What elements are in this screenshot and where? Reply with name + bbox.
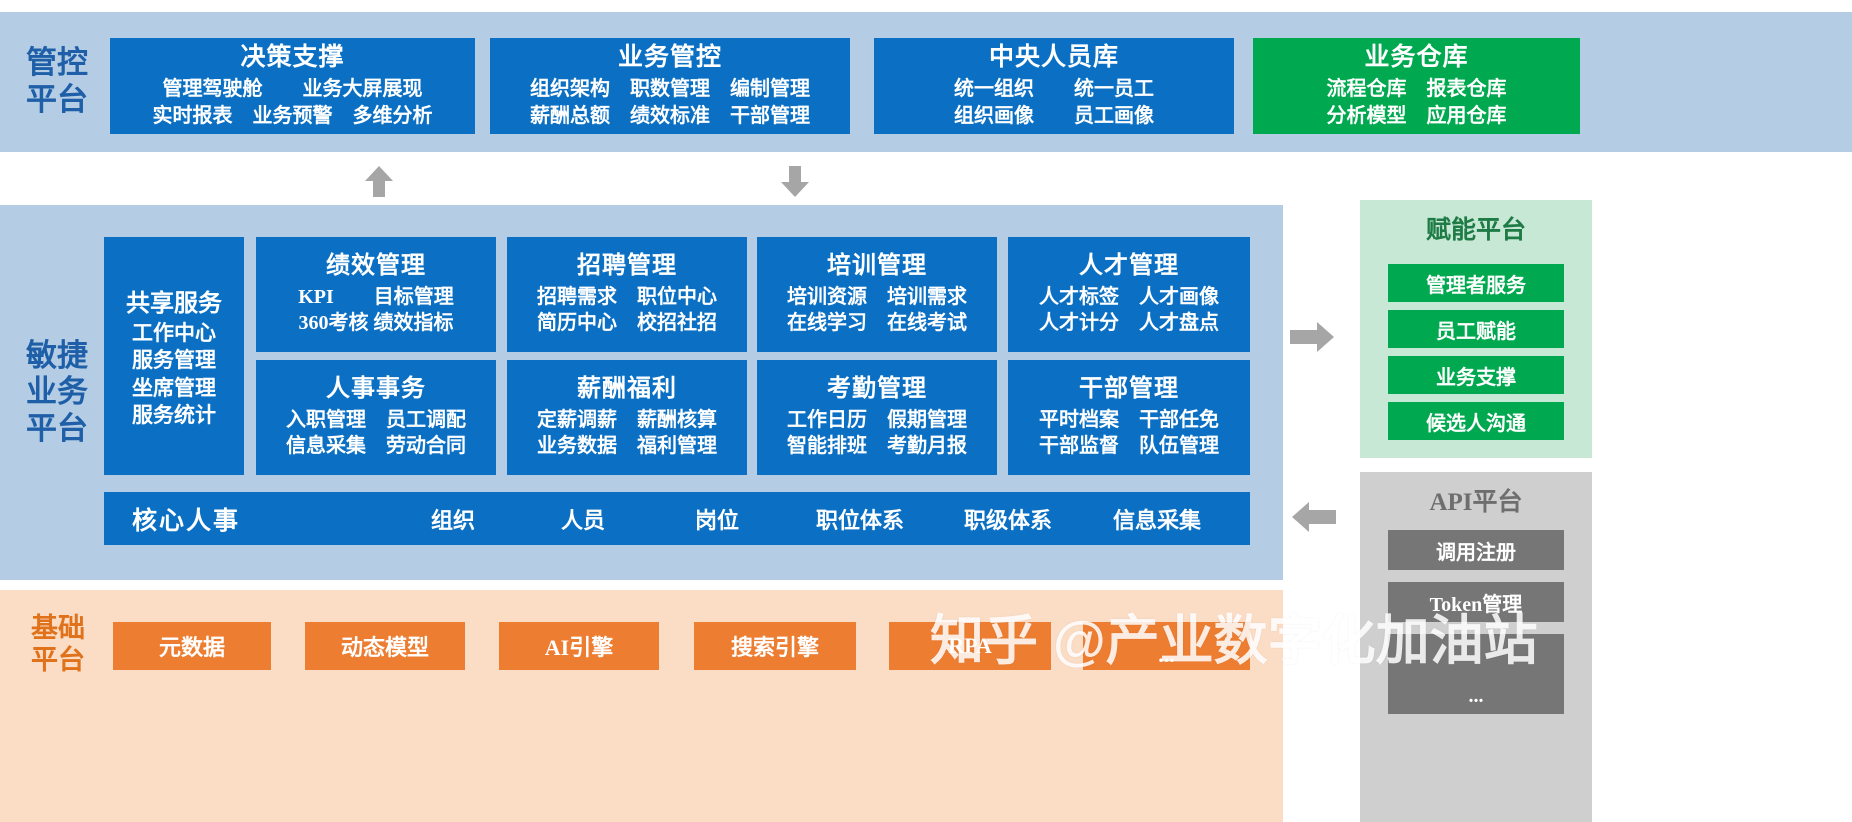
card-subline: 招聘需求 职位中心: [537, 284, 717, 310]
card-subline: 信息采集 劳动合同: [286, 433, 466, 459]
card-title: 干部管理: [1079, 375, 1179, 404]
card-subline: 流程仓库 报表仓库: [1327, 76, 1507, 102]
module-talent-management[interactable]: 人才管理 人才标签 人才画像 人才计分 人才盘点: [1008, 237, 1250, 352]
control-card-business-control[interactable]: 业务管控 组织架构 职数管理 编制管理 薪酬总额 绩效标准 干部管理: [490, 38, 850, 134]
card-title: 业务仓库: [1364, 43, 1468, 74]
core-hr-item-post[interactable]: 岗位: [648, 503, 786, 535]
card-subline: 组织架构 职数管理 编制管理: [530, 76, 810, 102]
card-subline: 360考核 绩效指标: [299, 310, 454, 336]
enable-item-business-support[interactable]: 业务支撑: [1388, 356, 1564, 394]
enable-item-employee-empowerment[interactable]: 员工赋能: [1388, 310, 1564, 348]
card-subline: 在线学习 在线考试: [787, 310, 967, 336]
base-item-rpa[interactable]: RPA: [889, 622, 1051, 670]
card-subline: 简历中心 校招社招: [537, 310, 717, 336]
core-hr-item-rank-system[interactable]: 职级体系: [934, 503, 1082, 535]
card-subline: 薪酬总额 绩效标准 干部管理: [530, 103, 810, 129]
arrow-right-icon: [1288, 320, 1336, 354]
module-cadre-management[interactable]: 干部管理 平时档案 干部任免 干部监督 队伍管理: [1008, 360, 1250, 475]
card-subline: 统一组织 统一员工: [954, 76, 1154, 102]
base-item-search-engine[interactable]: 搜索引擎: [694, 622, 856, 670]
card-subline: 服务统计: [132, 402, 216, 429]
arrow-left-icon: [1290, 500, 1338, 534]
core-hr-item-position-system[interactable]: 职位体系: [786, 503, 934, 535]
module-performance-management[interactable]: 绩效管理 KPI 目标管理 360考核 绩效指标: [256, 237, 496, 352]
base-item-more[interactable]: ...: [1083, 622, 1250, 670]
card-subline: 坐席管理: [132, 375, 216, 402]
api-platform-title: API平台: [1360, 482, 1592, 518]
module-shared-service[interactable]: 共享服务 工作中心 服务管理 坐席管理 服务统计: [104, 237, 244, 475]
arrow-up-icon: [362, 164, 396, 198]
base-item-metadata[interactable]: 元数据: [113, 622, 271, 670]
card-subline: 培训资源 培训需求: [787, 284, 967, 310]
api-item-more[interactable]: ...: [1388, 634, 1564, 714]
core-hr-title: 核心人事: [132, 501, 388, 537]
module-attendance-management[interactable]: 考勤管理 工作日历 假期管理 智能排班 考勤月报: [757, 360, 997, 475]
enable-item-manager-service[interactable]: 管理者服务: [1388, 264, 1564, 302]
card-title: 薪酬福利: [577, 375, 677, 404]
enable-item-candidate-communication[interactable]: 候选人沟通: [1388, 402, 1564, 440]
api-item-call-registration[interactable]: 调用注册: [1388, 530, 1564, 570]
core-hr-item-info-collection[interactable]: 信息采集: [1082, 503, 1232, 535]
agile-platform-label: 敏捷 业务 平台: [14, 205, 100, 580]
card-subline: 平时档案 干部任免: [1039, 407, 1219, 433]
card-subline: KPI 目标管理: [298, 284, 454, 310]
card-title: 人事事务: [326, 375, 426, 404]
enable-platform-title: 赋能平台: [1360, 210, 1592, 246]
card-subline: 工作日历 假期管理: [787, 407, 967, 433]
card-subline: 入职管理 员工调配: [286, 407, 466, 433]
card-title: 考勤管理: [827, 375, 927, 404]
card-subline: 实时报表 业务预警 多维分析: [153, 103, 433, 129]
control-card-central-staff-db[interactable]: 中央人员库 统一组织 统一员工 组织画像 员工画像: [874, 38, 1234, 134]
card-title: 决策支撑: [240, 43, 344, 74]
card-title: 人才管理: [1079, 252, 1179, 281]
card-title: 培训管理: [827, 252, 927, 281]
card-title: 招聘管理: [577, 252, 677, 281]
core-hr-bar[interactable]: 核心人事 组织 人员 岗位 职位体系 职级体系 信息采集: [104, 492, 1250, 545]
card-title: 中央人员库: [989, 43, 1119, 74]
module-hr-affairs[interactable]: 人事事务 入职管理 员工调配 信息采集 劳动合同: [256, 360, 496, 475]
base-platform-label: 基础 平台: [18, 605, 98, 685]
card-subline: 组织画像 员工画像: [954, 103, 1154, 129]
api-item-token-management[interactable]: Token管理: [1388, 582, 1564, 622]
arrow-down-icon: [778, 164, 812, 198]
card-subline: 工作中心: [132, 320, 216, 347]
module-recruitment-management[interactable]: 招聘管理 招聘需求 职位中心 简历中心 校招社招: [507, 237, 747, 352]
core-hr-item-people[interactable]: 人员: [518, 503, 648, 535]
module-compensation-benefits[interactable]: 薪酬福利 定薪调薪 薪酬核算 业务数据 福利管理: [507, 360, 747, 475]
base-label-line: 平台: [31, 645, 85, 677]
base-label-line: 基础: [31, 613, 85, 645]
agile-label-line: 平台: [26, 411, 88, 448]
card-subline: 管理驾驶舱 业务大屏展现: [163, 76, 423, 102]
control-card-decision[interactable]: 决策支撑 管理驾驶舱 业务大屏展现 实时报表 业务预警 多维分析: [110, 38, 475, 134]
base-item-dynamic-model[interactable]: 动态模型: [305, 622, 465, 670]
card-title: 绩效管理: [326, 252, 426, 281]
card-subline: 服务管理: [132, 347, 216, 374]
control-card-business-warehouse[interactable]: 业务仓库 流程仓库 报表仓库 分析模型 应用仓库: [1253, 38, 1580, 134]
card-subline: 人才标签 人才画像: [1039, 284, 1219, 310]
base-item-ai-engine[interactable]: AI引擎: [499, 622, 659, 670]
agile-label-line: 敏捷: [26, 338, 88, 375]
module-training-management[interactable]: 培训管理 培训资源 培训需求 在线学习 在线考试: [757, 237, 997, 352]
card-subline: 人才计分 人才盘点: [1039, 310, 1219, 336]
card-subline: 业务数据 福利管理: [537, 433, 717, 459]
control-platform-label: 管控平台: [14, 12, 100, 152]
card-subline: 定薪调薪 薪酬核算: [537, 407, 717, 433]
card-title: 业务管控: [618, 43, 722, 74]
core-hr-item-org[interactable]: 组织: [388, 503, 518, 535]
card-title: 共享服务: [126, 283, 222, 318]
card-subline: 智能排班 考勤月报: [787, 433, 967, 459]
card-subline: 干部监督 队伍管理: [1039, 433, 1219, 459]
diagram-canvas: 管控平台 决策支撑 管理驾驶舱 业务大屏展现 实时报表 业务预警 多维分析 业务…: [0, 0, 1852, 822]
card-subline: 分析模型 应用仓库: [1327, 103, 1507, 129]
agile-label-line: 业务: [26, 374, 88, 411]
